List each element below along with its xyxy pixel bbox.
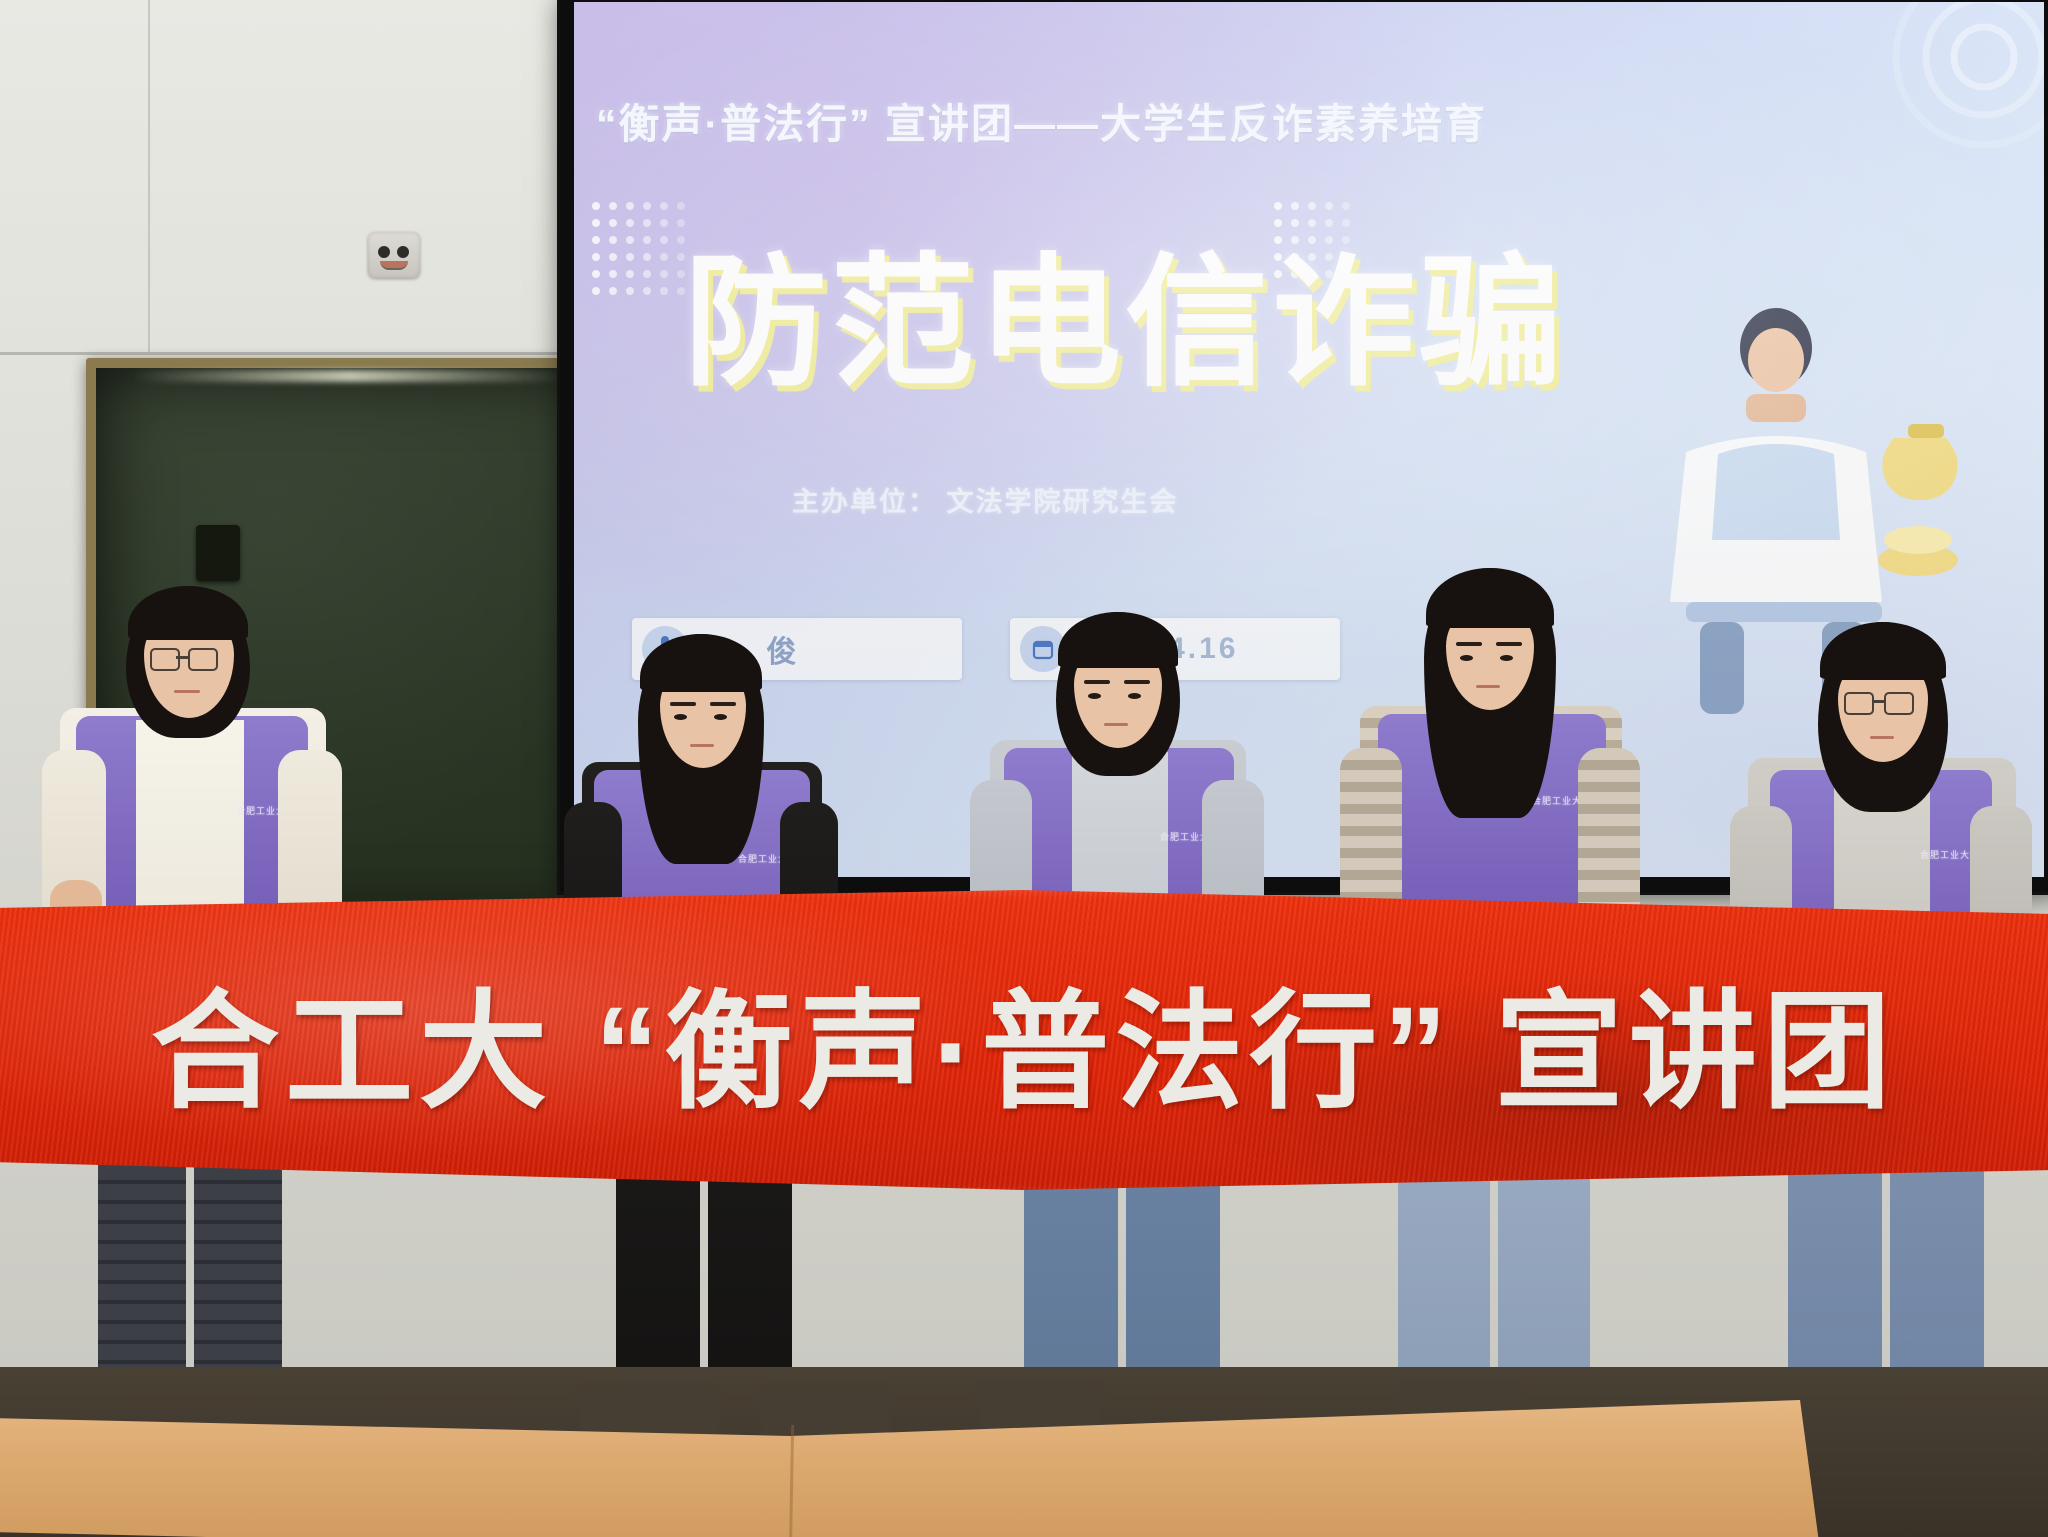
banner-text: 合工大 “衡声·普法行” 宣讲团 <box>0 890 2048 1190</box>
wall-seam-vertical <box>148 0 150 352</box>
slide-title-text: 防范电信诈骗 <box>684 207 1566 414</box>
slide-organizer-text: 主办单位： 文法学院研究生会 <box>792 480 1179 519</box>
photo-scene: “衡声·普法行” 宣讲团——大学生反诈素养培育 防范电信诈骗 主办单位： 文法学… <box>0 0 2048 1537</box>
hair-fringe <box>1820 622 1946 680</box>
chair-back <box>760 1385 890 1440</box>
wall-seam <box>0 352 620 355</box>
hair-fringe <box>640 634 762 692</box>
blackboard-eraser <box>196 525 240 581</box>
decorative-arc-icon <box>1754 2 2044 292</box>
hair-top <box>128 586 248 640</box>
glasses-icon <box>1842 692 1928 714</box>
hair-fringe <box>1058 612 1178 668</box>
red-banner: 合工大 “衡声·普法行” 宣讲团 <box>0 890 2048 1190</box>
slide-header-text: “衡声·普法行” 宣讲团——大学生反诈素养培育 <box>596 90 1487 150</box>
glasses-icon <box>148 648 232 670</box>
power-outlet-icon <box>368 232 420 278</box>
